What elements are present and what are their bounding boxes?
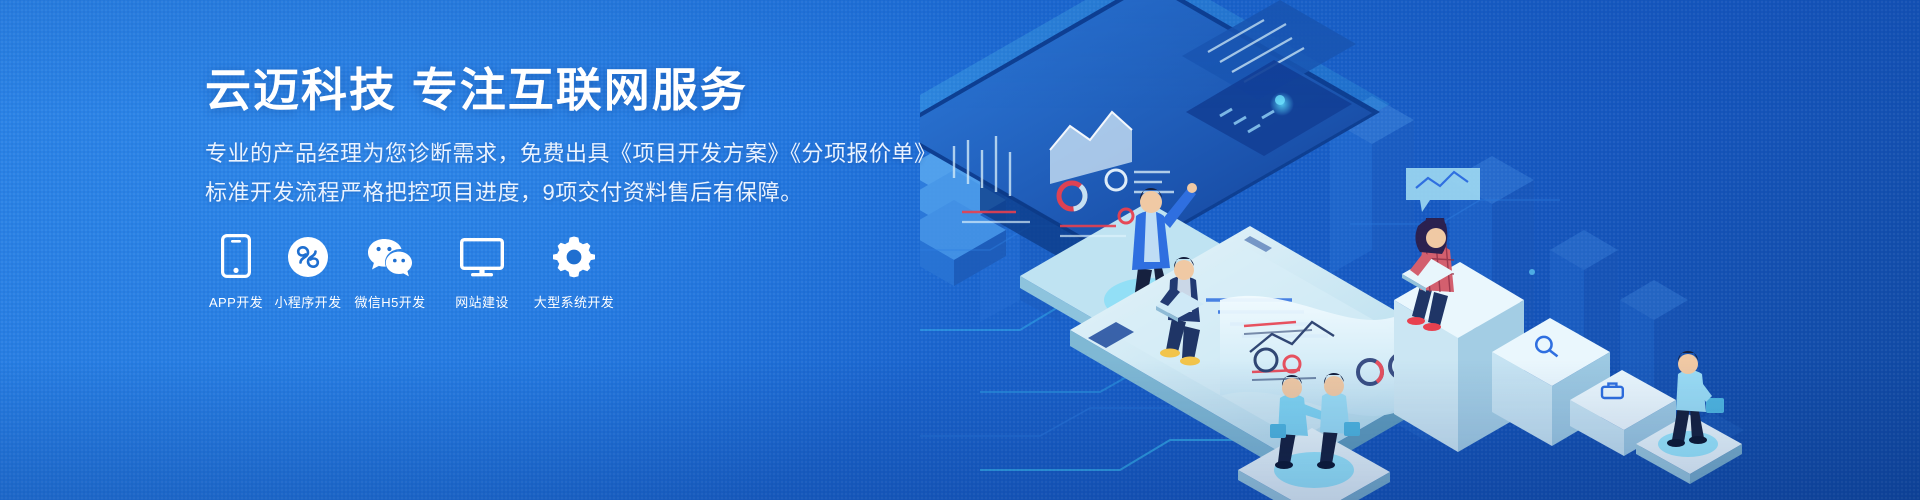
promo-banner: 云迈科技 专注互联网服务 专业的产品经理为您诊断需求，免费出具《项目开发方案》《…: [0, 0, 1920, 500]
wechat-icon: [366, 232, 414, 278]
service-item-mini-program[interactable]: 小程序开发: [272, 232, 344, 311]
banner-subtitle: 专业的产品经理为您诊断需求，免费出具《项目开发方案》《分项报价单》 标准开发流程…: [205, 134, 925, 213]
mobile-phone-icon: [221, 232, 251, 278]
mini-program-icon: [287, 232, 329, 278]
service-item-website[interactable]: 网站建设: [436, 232, 528, 311]
service-label-website: 网站建设: [455, 292, 509, 311]
service-label-large-system: 大型系统开发: [534, 292, 614, 311]
banner-copy: 云迈科技 专注互联网服务 专业的产品经理为您诊断需求，免费出具《项目开发方案》《…: [205, 62, 925, 213]
service-label-app: APP开发: [209, 292, 263, 311]
gear-icon: [553, 232, 595, 278]
service-item-wechat[interactable]: 微信H5开发: [344, 232, 436, 311]
subtitle-line-2: 标准开发流程严格把控项目进度，9项交付资料售后有保障。: [205, 173, 925, 213]
subtitle-line-1: 专业的产品经理为您诊断需求，免费出具《项目开发方案》《分项报价单》: [205, 134, 925, 174]
isometric-tech-illustration: [920, 0, 1920, 500]
service-label-wechat: 微信H5开发: [354, 292, 425, 311]
service-list: APP开发 小程序开发: [200, 232, 620, 311]
service-label-mini-program: 小程序开发: [274, 292, 341, 311]
service-item-large-system[interactable]: 大型系统开发: [528, 232, 620, 311]
page-title: 云迈科技 专注互联网服务: [205, 62, 925, 120]
monitor-icon: [460, 232, 504, 278]
service-item-app[interactable]: APP开发: [200, 232, 272, 311]
